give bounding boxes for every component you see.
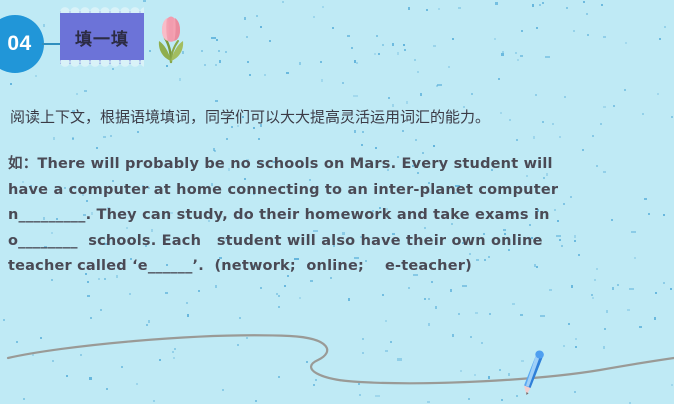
section-header: 04 填一填 (0, 0, 230, 88)
intro-instruction-text: 阅读上下文，根据语境填词，同学们可以大大提高灵活运用词汇的能力。 (10, 106, 650, 127)
passage-block: 如：There will probably be no schools on M… (8, 152, 668, 280)
pencil-icon (517, 348, 547, 398)
section-title: 填一填 (60, 11, 144, 64)
tulip-flower-icon (150, 14, 192, 70)
section-number-label: 04 (0, 32, 32, 56)
slide-canvas: 04 填一填 阅读上下文，根据语境填词，同学们可以大大提高灵活运用词汇的能力。 … (0, 0, 674, 404)
section-number-badge: 04 (0, 15, 44, 73)
passage-line: o________ schools. Each student will als… (8, 229, 668, 255)
bottom-curve-decoration (0, 318, 674, 404)
passage-line: 如：There will probably be no schools on M… (8, 152, 668, 178)
passage-line: teacher called ‘e______’. (network; onli… (8, 254, 668, 280)
passage-line: n_________. They can study, do their hom… (8, 203, 668, 229)
passage-line: have a computer at home connecting to an… (8, 178, 668, 204)
